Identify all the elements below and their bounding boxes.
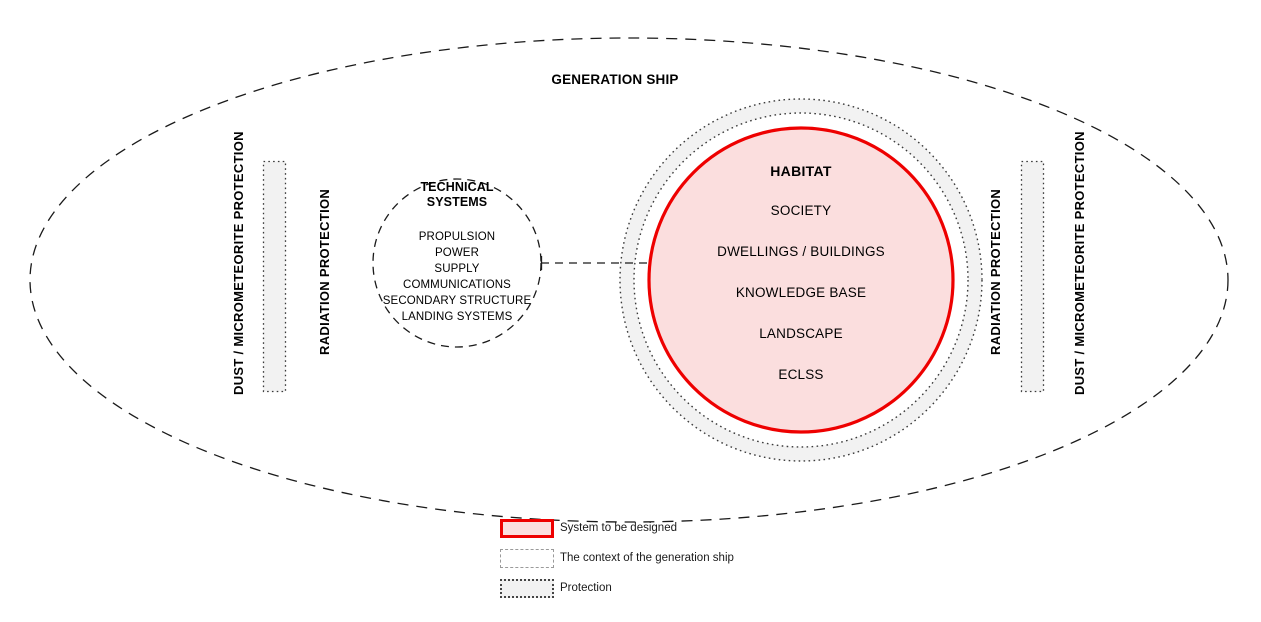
technical-systems-item-power: POWER	[435, 248, 479, 260]
habitat-title: HABITAT	[770, 164, 831, 178]
technical-systems-item-secondary-structure: SECONDARY STRUCTURE	[383, 296, 531, 308]
technical-systems-item-propulsion: PROPULSION	[419, 232, 495, 244]
habitat-item-landscape: LANDSCAPE	[759, 327, 843, 341]
habitat-item-eclss: ECLSS	[778, 368, 823, 382]
left-radiation-protection-label: RADIATION PROTECTION	[318, 189, 331, 355]
habitat-item-dwellings-buildings: DWELLINGS / BUILDINGS	[717, 245, 885, 259]
technical-systems-item-supply: SUPPLY	[434, 264, 479, 276]
right-radiation-protection-label: RADIATION PROTECTION	[989, 189, 1002, 355]
legend-label-system-to-be-designed: System to be designed	[560, 523, 677, 535]
habitat-item-knowledge-base: KNOWLEDGE BASE	[736, 286, 866, 300]
left-protection-bar	[264, 162, 286, 392]
legend-swatch-context	[500, 549, 554, 568]
right-dust-micrometeorite-protection-label: DUST / MICROMETEORITE PROTECTION	[1073, 131, 1086, 395]
page-title: GENERATION SHIP	[551, 73, 678, 87]
habitat-item-society: SOCIETY	[771, 204, 832, 218]
legend-label-protection: Protection	[560, 583, 612, 595]
technical-systems-item-landing-systems: LANDING SYSTEMS	[402, 312, 513, 324]
left-dust-micrometeorite-protection-label: DUST / MICROMETEORITE PROTECTION	[232, 131, 245, 395]
technical-systems-title-line2: SYSTEMS	[427, 196, 487, 209]
legend-swatch-protection	[500, 579, 554, 598]
legend-label-context: The context of the generation ship	[560, 553, 734, 565]
right-protection-bar	[1022, 162, 1044, 392]
diagram-canvas: GENERATION SHIP TECHNICAL SYSTEMS PROPUL…	[0, 0, 1261, 622]
legend-swatch-system-to-be-designed	[500, 519, 554, 538]
technical-systems-title-line1: TECHNICAL	[420, 181, 493, 194]
technical-systems-item-communications: COMMUNICATIONS	[403, 280, 511, 292]
